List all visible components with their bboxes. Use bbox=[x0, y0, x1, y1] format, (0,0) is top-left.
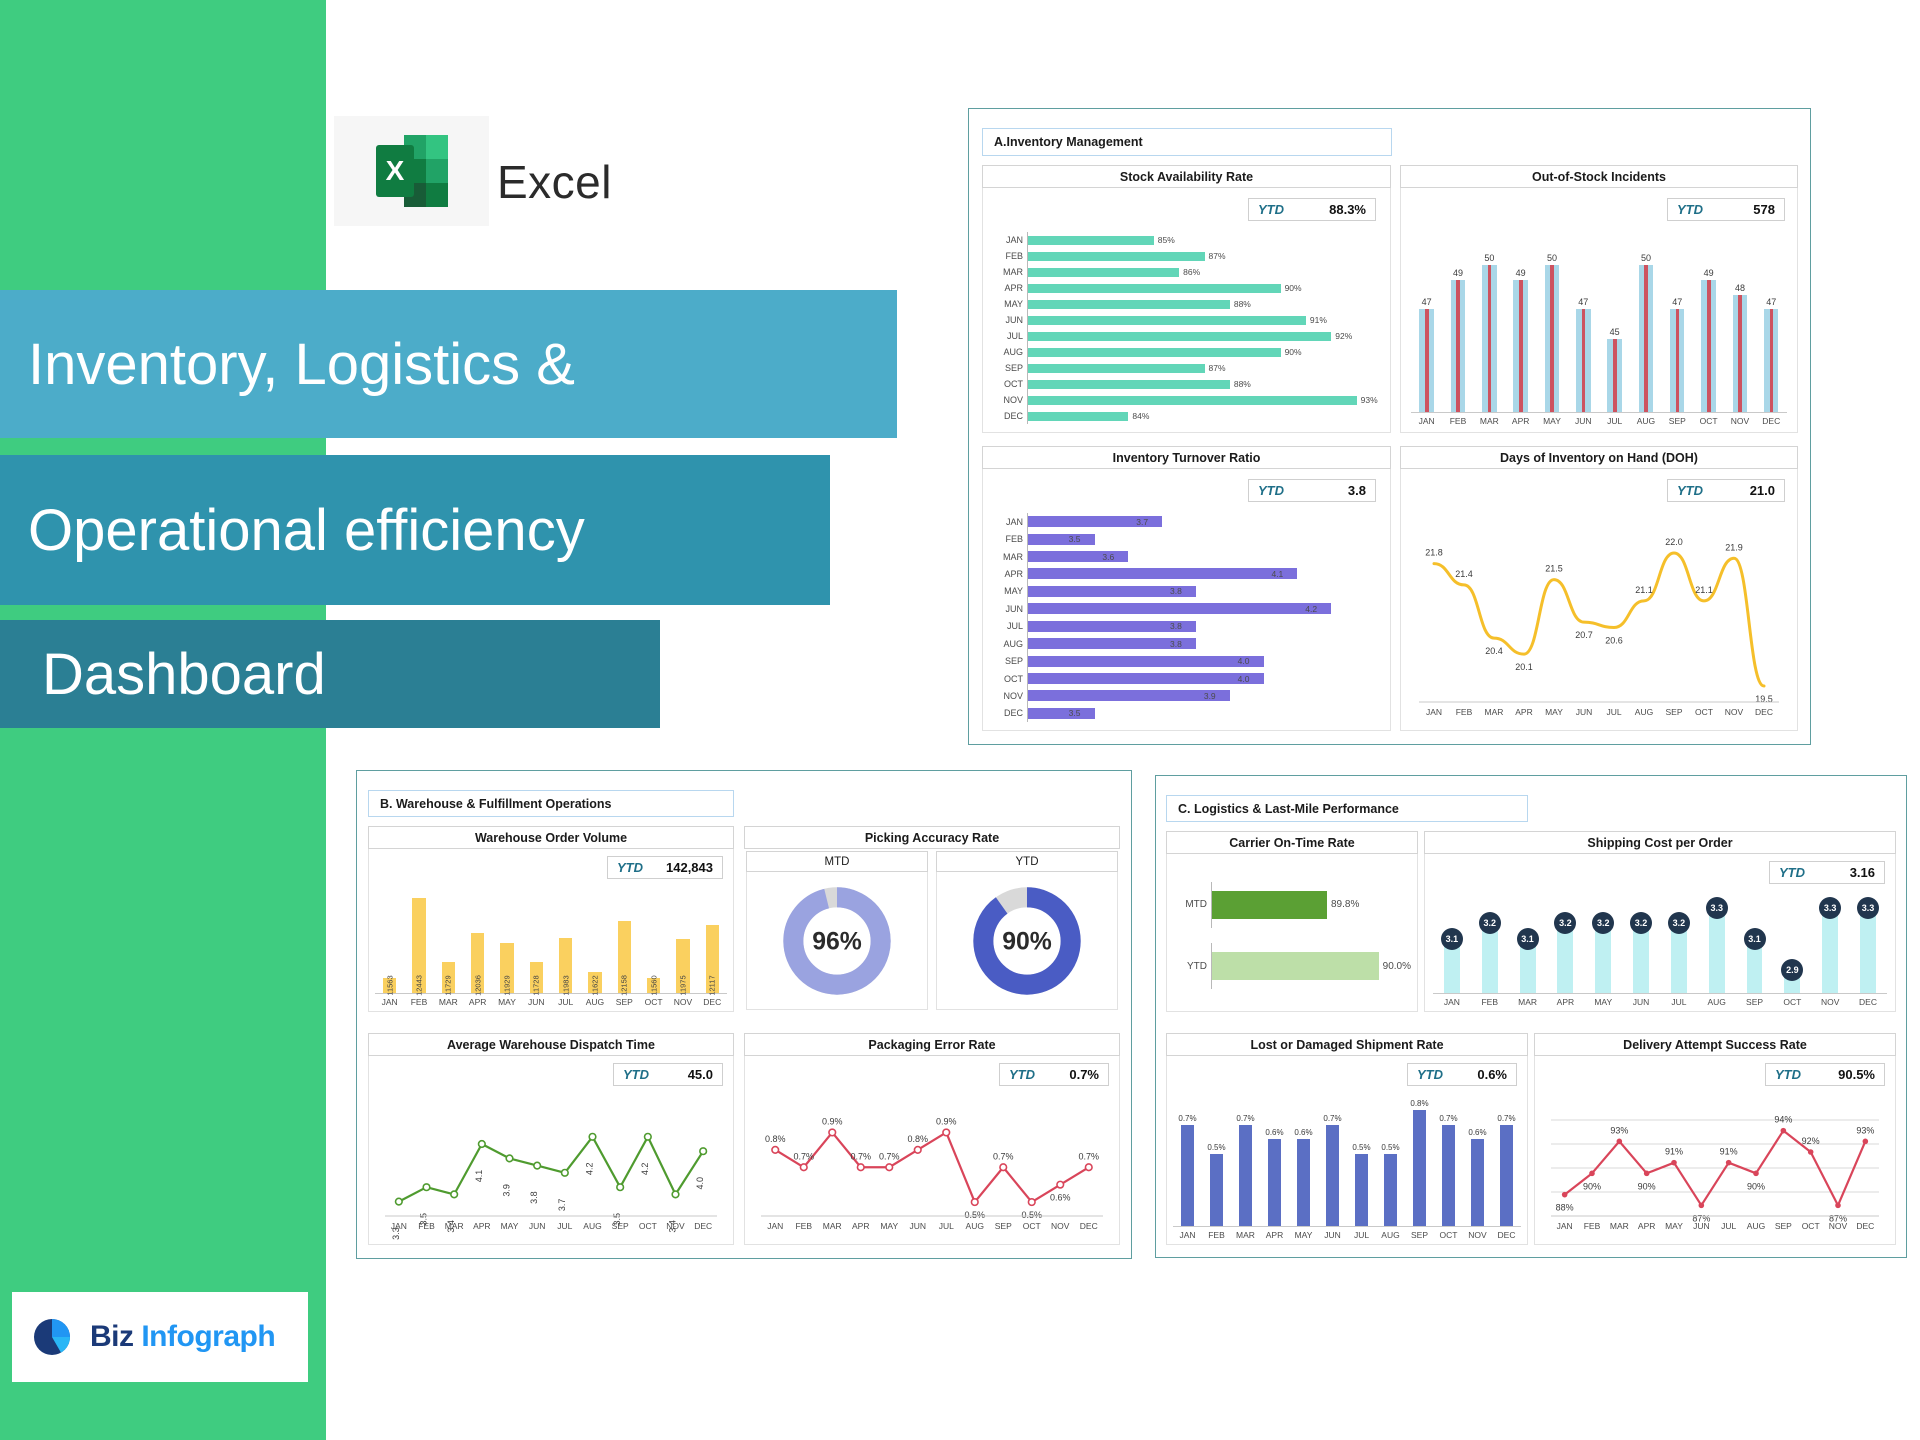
svg-text:JAN: JAN bbox=[1557, 1221, 1573, 1231]
bar-column: 3.1 bbox=[1509, 892, 1547, 993]
card-lost-or-damaged-shipment-rate: Lost or Damaged Shipment Rate YTD 0.6% 0… bbox=[1166, 1033, 1528, 1245]
line-chart-svg: 88%90%93%90%91%87%91%90%94%92%87%93%JANF… bbox=[1541, 1092, 1889, 1240]
svg-text:21.4: 21.4 bbox=[1455, 569, 1473, 579]
bar bbox=[1027, 284, 1281, 293]
bar-column: 50 bbox=[1630, 236, 1661, 412]
bar-value-bubble: 3.3 bbox=[1706, 897, 1728, 919]
bar bbox=[1027, 656, 1264, 667]
line-chart-svg: 3.33.53.44.13.93.83.74.23.54.23.44.0JANF… bbox=[375, 1092, 727, 1240]
bar: 11929 bbox=[500, 943, 513, 993]
bar bbox=[1822, 908, 1838, 993]
svg-text:90%: 90% bbox=[1583, 1181, 1601, 1191]
svg-text:92%: 92% bbox=[1802, 1136, 1820, 1146]
svg-text:0.7%: 0.7% bbox=[993, 1151, 1014, 1161]
bar-category-label: FEB bbox=[989, 534, 1027, 544]
bar bbox=[1211, 952, 1379, 980]
excel-icon: X bbox=[334, 116, 489, 226]
svg-text:0.7%: 0.7% bbox=[1078, 1151, 1099, 1161]
axis-tick-label: JUL bbox=[1347, 1227, 1376, 1240]
bar-column: 47 bbox=[1411, 236, 1442, 412]
bar-column: 1162211622 bbox=[580, 887, 609, 993]
svg-text:21.1: 21.1 bbox=[1695, 585, 1713, 595]
bar-value-label: 3.9 bbox=[1204, 691, 1216, 701]
bar-accent bbox=[1676, 309, 1680, 412]
bar-accent bbox=[1738, 295, 1742, 412]
bar-value-label: 93% bbox=[1361, 395, 1378, 405]
bar-value-label: 0.7% bbox=[1323, 1114, 1341, 1123]
card-title-packaging-error-rate: Packaging Error Rate bbox=[744, 1033, 1120, 1056]
bar-column: 1197511975 bbox=[668, 887, 697, 993]
bar-row: DEC84% bbox=[989, 408, 1382, 424]
axis-tick-label: JUN bbox=[522, 994, 551, 1007]
card-title-stock-availability-rate: Stock Availability Rate bbox=[982, 165, 1391, 188]
axis-tick-label: JAN bbox=[1411, 413, 1442, 426]
bar bbox=[1860, 908, 1876, 993]
bar bbox=[1513, 280, 1527, 412]
bar bbox=[1419, 309, 1433, 412]
bar-column: 47 bbox=[1568, 236, 1599, 412]
chart-delivery-attempt-success-rate: YTD 90.5% 88%90%93%90%91%87%91%90%94%92%… bbox=[1534, 1056, 1896, 1245]
bar-column: 49 bbox=[1693, 236, 1724, 412]
bar-row: AUG90% bbox=[989, 344, 1382, 360]
svg-text:0.6%: 0.6% bbox=[1050, 1193, 1071, 1203]
picking-accuracy-donuts: MTD 96% YTD 90% bbox=[744, 849, 1120, 1012]
bar: 12036 bbox=[471, 933, 484, 993]
bar-value-label: 0.6% bbox=[1294, 1128, 1312, 1137]
bar-row: MAY3.8 bbox=[989, 583, 1382, 600]
svg-text:AUG: AUG bbox=[583, 1221, 601, 1231]
axis-tick-label: JUN bbox=[1318, 1227, 1347, 1240]
kpi-label-packaging: YTD bbox=[1009, 1067, 1035, 1082]
bar-category-label: MAR bbox=[989, 267, 1027, 277]
svg-text:90%: 90% bbox=[1747, 1181, 1765, 1191]
bar-value-label: 50 bbox=[1484, 253, 1494, 263]
bar bbox=[1545, 265, 1559, 412]
bar-value-label: 12443 bbox=[414, 975, 423, 996]
bar-value-bubble: 3.1 bbox=[1744, 928, 1766, 950]
svg-text:20.1: 20.1 bbox=[1515, 662, 1533, 672]
bar-column: 3.2 bbox=[1471, 892, 1509, 993]
svg-text:JUN: JUN bbox=[1693, 1221, 1710, 1231]
bar-value-label: 12158 bbox=[620, 975, 629, 996]
bar-category-label: APR bbox=[989, 569, 1027, 579]
bar-value-label: 49 bbox=[1453, 268, 1463, 278]
bar bbox=[1211, 891, 1327, 919]
bar bbox=[1239, 1125, 1252, 1226]
chart-warehouse-order-volume: YTD 142,843 1156311563124431244311729117… bbox=[368, 849, 734, 1012]
bar-row: MTD89.8% bbox=[1173, 882, 1411, 928]
card-title-delivery-success: Delivery Attempt Success Rate bbox=[1534, 1033, 1896, 1056]
svg-text:21.8: 21.8 bbox=[1425, 548, 1443, 558]
bar-column: 3.3 bbox=[1698, 892, 1736, 993]
bar-row: SEP4.0 bbox=[989, 652, 1382, 669]
svg-text:19.5: 19.5 bbox=[1755, 694, 1773, 704]
logo-text-biz: Biz bbox=[90, 1320, 134, 1353]
svg-text:0.9%: 0.9% bbox=[936, 1116, 957, 1126]
kpi-value-packaging: 0.7% bbox=[1069, 1067, 1099, 1082]
bar-category-label: AUG bbox=[989, 639, 1027, 649]
bar bbox=[1670, 309, 1684, 412]
bar-value-label: 3.8 bbox=[1170, 621, 1182, 631]
donut-ytd: 90% bbox=[936, 872, 1118, 1010]
bar-accent bbox=[1488, 265, 1492, 412]
axis-tick-label: JAN bbox=[1173, 1227, 1202, 1240]
axis-tick-label: NOV bbox=[668, 994, 697, 1007]
svg-text:91%: 91% bbox=[1665, 1147, 1683, 1157]
svg-text:0.9%: 0.9% bbox=[822, 1116, 843, 1126]
bar bbox=[1027, 380, 1230, 389]
kpi-label-stock-availability: YTD bbox=[1258, 202, 1284, 217]
bar-value-bubble: 2.9 bbox=[1781, 959, 1803, 981]
axis-tick-label: AUG bbox=[1376, 1227, 1405, 1240]
bar bbox=[1027, 690, 1230, 701]
biz-infograph-logo: Biz Infograph bbox=[12, 1292, 308, 1382]
bar-column: 49 bbox=[1505, 236, 1536, 412]
svg-text:SEP: SEP bbox=[612, 1221, 629, 1231]
bar-accent bbox=[1456, 280, 1460, 412]
bar-value-label: 87% bbox=[1209, 363, 1226, 373]
axis-tick-label: FEB bbox=[1202, 1227, 1231, 1240]
kpi-value-shipping-cost: 3.16 bbox=[1850, 865, 1875, 880]
bar-value-label: 85% bbox=[1158, 235, 1175, 245]
axis-tick-label: SEP bbox=[1405, 1227, 1434, 1240]
bar: 11728 bbox=[530, 962, 543, 993]
bar-value-bubble: 3.2 bbox=[1479, 912, 1501, 934]
svg-text:FEB: FEB bbox=[418, 1221, 435, 1231]
bar-row: AUG3.8 bbox=[989, 635, 1382, 652]
bar-accent bbox=[1644, 265, 1648, 412]
bar-value-label: 91% bbox=[1310, 315, 1327, 325]
bar-column: 0.5% bbox=[1376, 1096, 1405, 1226]
bar-category-label: NOV bbox=[989, 691, 1027, 701]
bar-column: 1244312443 bbox=[404, 887, 433, 993]
svg-text:NOV: NOV bbox=[1051, 1221, 1070, 1231]
svg-text:JAN: JAN bbox=[391, 1221, 407, 1231]
card-days-of-inventory-on-hand: Days of Inventory on Hand (DOH) YTD 21.0… bbox=[1400, 446, 1798, 731]
bar-value-label: 0.8% bbox=[1410, 1099, 1428, 1108]
svg-text:21.1: 21.1 bbox=[1635, 585, 1653, 595]
axis-tick-label: JUL bbox=[1599, 413, 1630, 426]
bar-value-label: 11983 bbox=[561, 975, 570, 995]
bar-value-label: 4.1 bbox=[1271, 569, 1283, 579]
svg-text:JAN: JAN bbox=[767, 1221, 783, 1231]
card-title-doh: Days of Inventory on Hand (DOH) bbox=[1400, 446, 1798, 469]
axis-tick-label: MAR bbox=[1231, 1227, 1260, 1240]
svg-text:FEB: FEB bbox=[1584, 1221, 1601, 1231]
bar-value-label: 11728 bbox=[532, 975, 541, 995]
bar-row: APR4.1 bbox=[989, 565, 1382, 582]
bar-value-label: 48 bbox=[1735, 283, 1745, 293]
kpi-value-dispatch: 45.0 bbox=[688, 1067, 713, 1082]
bar bbox=[1027, 268, 1179, 277]
axis-tick-label: JUL bbox=[551, 994, 580, 1007]
bar bbox=[1027, 396, 1357, 405]
title-band-3: Dashboard bbox=[0, 620, 660, 728]
kpi-value-doh: 21.0 bbox=[1750, 483, 1775, 498]
kpi-value-out-of-stock: 578 bbox=[1753, 202, 1775, 217]
section-heading-a: A.Inventory Management bbox=[982, 128, 1392, 156]
chart-lost-or-damaged-shipment-rate: YTD 0.6% 0.7%0.5%0.7%0.6%0.6%0.7%0.5%0.5… bbox=[1166, 1056, 1528, 1245]
card-title-inventory-turnover-ratio: Inventory Turnover Ratio bbox=[982, 446, 1391, 469]
bar-column: 3.1 bbox=[1433, 892, 1471, 993]
bar-column: 3.3 bbox=[1811, 892, 1849, 993]
bar-category-label: MAY bbox=[989, 586, 1027, 596]
donut-label-ytd: YTD bbox=[936, 851, 1118, 872]
bar-value-bubble: 3.2 bbox=[1668, 912, 1690, 934]
card-title-dispatch-time: Average Warehouse Dispatch Time bbox=[368, 1033, 734, 1056]
donut-label-mtd: MTD bbox=[746, 851, 928, 872]
axis-tick-label: APR bbox=[1505, 413, 1536, 426]
bar-value-label: 3.6 bbox=[1102, 552, 1114, 562]
bar-value-label: 0.5% bbox=[1207, 1143, 1225, 1152]
bar-category-label: DEC bbox=[989, 708, 1027, 718]
axis-tick-label: AUG bbox=[580, 994, 609, 1007]
axis-tick-label: OCT bbox=[1434, 1227, 1463, 1240]
bar-category-label: JUN bbox=[989, 604, 1027, 614]
svg-text:OCT: OCT bbox=[1802, 1221, 1820, 1231]
axis-tick-label: AUG bbox=[1630, 413, 1661, 426]
bar-value-label: 0.7% bbox=[1497, 1114, 1515, 1123]
bar-value-bubble: 3.3 bbox=[1857, 897, 1879, 919]
svg-text:SEP: SEP bbox=[1775, 1221, 1792, 1231]
svg-text:JUL: JUL bbox=[557, 1221, 572, 1231]
title-band-1: Inventory, Logistics & bbox=[0, 290, 897, 438]
card-carrier-on-time-rate: Carrier On-Time Rate MTD89.8%YTD90.0% bbox=[1166, 831, 1418, 1012]
bar: 11622 bbox=[588, 972, 601, 993]
axis-tick-label: JUL bbox=[1660, 994, 1698, 1007]
bar-accent bbox=[1550, 265, 1554, 412]
bar-row: MAR3.6 bbox=[989, 548, 1382, 565]
kpi-label-lost-damaged: YTD bbox=[1417, 1067, 1443, 1082]
svg-text:SEP: SEP bbox=[995, 1221, 1012, 1231]
kpi-label-dispatch: YTD bbox=[623, 1067, 649, 1082]
svg-text:93%: 93% bbox=[1610, 1125, 1628, 1135]
svg-text:AUG: AUG bbox=[1747, 1221, 1765, 1231]
bar-value-label: 88% bbox=[1234, 299, 1251, 309]
bar bbox=[1576, 309, 1590, 412]
card-warehouse-order-volume: Warehouse Order Volume YTD 142,843 11563… bbox=[368, 826, 734, 1012]
svg-text:93%: 93% bbox=[1856, 1125, 1874, 1135]
axis-tick-label: SEP bbox=[610, 994, 639, 1007]
bar-value-label: 11975 bbox=[678, 975, 687, 995]
svg-text:JUN: JUN bbox=[909, 1221, 926, 1231]
svg-text:APR: APR bbox=[473, 1221, 490, 1231]
bar-row: NOV3.9 bbox=[989, 687, 1382, 704]
section-heading-b: B. Warehouse & Fulfillment Operations bbox=[368, 790, 734, 817]
bar-value-label: 3.8 bbox=[1170, 639, 1182, 649]
kpi-label-delivery-success: YTD bbox=[1775, 1067, 1801, 1082]
chart-shipping-cost-per-order: YTD 3.16 3.13.23.13.23.23.23.23.33.12.93… bbox=[1424, 854, 1896, 1012]
bar-column: 0.7% bbox=[1173, 1096, 1202, 1226]
kpi-value-lost-damaged: 0.6% bbox=[1477, 1067, 1507, 1082]
bar-column: 3.1 bbox=[1736, 892, 1774, 993]
bar-row: SEP87% bbox=[989, 360, 1382, 376]
donut-mtd: 96% bbox=[746, 872, 928, 1010]
bar-column: 0.5% bbox=[1347, 1096, 1376, 1226]
bar-value-label: 12117 bbox=[708, 975, 717, 995]
bar bbox=[1413, 1110, 1426, 1226]
bar-column: 50 bbox=[1474, 236, 1505, 412]
svg-text:X: X bbox=[385, 155, 404, 186]
bar-row: OCT4.0 bbox=[989, 670, 1382, 687]
card-title-warehouse-order-volume: Warehouse Order Volume bbox=[368, 826, 734, 849]
bar-row: OCT88% bbox=[989, 376, 1382, 392]
bar-column: 0.6% bbox=[1463, 1096, 1492, 1226]
bar-value-label: 90% bbox=[1285, 283, 1302, 293]
bar-column: 3.2 bbox=[1584, 892, 1622, 993]
bar-category-label: MAR bbox=[989, 552, 1027, 562]
axis-tick-label: FEB bbox=[1442, 413, 1473, 426]
svg-text:3.9: 3.9 bbox=[502, 1184, 512, 1197]
bar bbox=[1701, 280, 1715, 412]
axis-tick-label: NOV bbox=[1463, 1227, 1492, 1240]
bar-accent bbox=[1519, 280, 1523, 412]
bar bbox=[1181, 1125, 1194, 1226]
bar bbox=[1384, 1154, 1397, 1226]
svg-text:MAY: MAY bbox=[1665, 1221, 1683, 1231]
bar-value-label: 0.7% bbox=[1439, 1114, 1457, 1123]
svg-text:DEC: DEC bbox=[1856, 1221, 1874, 1231]
svg-text:21.9: 21.9 bbox=[1725, 542, 1743, 552]
kpi-label-doh: YTD bbox=[1677, 483, 1703, 498]
dashboard-title-line1: Inventory, Logistics & bbox=[0, 331, 575, 398]
svg-text:MAR: MAR bbox=[445, 1221, 464, 1231]
bar-accent bbox=[1770, 309, 1774, 412]
card-title-carrier-on-time-rate: Carrier On-Time Rate bbox=[1166, 831, 1418, 854]
bar-value-label: 11729 bbox=[444, 975, 453, 995]
axis-tick-label: DEC bbox=[1756, 413, 1787, 426]
bar-row: FEB87% bbox=[989, 248, 1382, 264]
bar bbox=[1027, 568, 1297, 579]
svg-text:MAY: MAY bbox=[501, 1221, 519, 1231]
bar: 12443 bbox=[412, 898, 425, 993]
bar bbox=[1027, 534, 1095, 545]
bar-row: MAY88% bbox=[989, 296, 1382, 312]
bar-column: 1172811728 bbox=[522, 887, 551, 993]
svg-text:DEC: DEC bbox=[1755, 707, 1773, 717]
bar-column: 47 bbox=[1756, 236, 1787, 412]
bar-row: JUL92% bbox=[989, 328, 1382, 344]
bar bbox=[1027, 603, 1331, 614]
svg-text:22.0: 22.0 bbox=[1665, 537, 1683, 547]
svg-text:JUL: JUL bbox=[1606, 707, 1621, 717]
bar-value-label: 49 bbox=[1704, 268, 1714, 278]
bar-value-label: 4.2 bbox=[1305, 604, 1317, 614]
card-title-lost-damaged: Lost or Damaged Shipment Rate bbox=[1166, 1033, 1528, 1056]
card-title-out-of-stock-incidents: Out-of-Stock Incidents bbox=[1400, 165, 1798, 188]
svg-text:JUL: JUL bbox=[939, 1221, 954, 1231]
bar-value-label: 88% bbox=[1234, 379, 1251, 389]
bar-accent bbox=[1707, 280, 1711, 412]
bar-value-label: 47 bbox=[1422, 297, 1432, 307]
bar-row: YTD90.0% bbox=[1173, 943, 1411, 989]
axis-tick-label: OCT bbox=[639, 994, 668, 1007]
svg-text:MAR: MAR bbox=[1485, 707, 1504, 717]
bar-value-label: 3.5 bbox=[1069, 534, 1081, 544]
bar-row: JAN85% bbox=[989, 232, 1382, 248]
bar: 12117 bbox=[706, 925, 719, 993]
axis-tick-label: NOV bbox=[1811, 994, 1849, 1007]
bar-column: 47 bbox=[1662, 236, 1693, 412]
bar-column: 0.7% bbox=[1318, 1096, 1347, 1226]
axis-tick-label: MAR bbox=[434, 994, 463, 1007]
bar-value-label: 47 bbox=[1766, 297, 1776, 307]
bar: 11975 bbox=[676, 939, 689, 993]
bar bbox=[1027, 316, 1306, 325]
section-heading-c: C. Logistics & Last-Mile Performance bbox=[1166, 795, 1528, 822]
svg-text:4.2: 4.2 bbox=[640, 1163, 650, 1176]
svg-text:OCT: OCT bbox=[639, 1221, 657, 1231]
chart-inventory-turnover-ratio: YTD 3.8 JAN3.7FEB3.5MAR3.6APR4.1MAY3.8JU… bbox=[982, 469, 1391, 731]
bar bbox=[1027, 252, 1205, 261]
axis-tick-label: MAY bbox=[1289, 1227, 1318, 1240]
bar-value-label: 87% bbox=[1209, 251, 1226, 261]
bar-value-label: 4.0 bbox=[1238, 656, 1250, 666]
bar-column: 45 bbox=[1599, 236, 1630, 412]
bar bbox=[1027, 236, 1154, 245]
axis-tick-label: MAR bbox=[1509, 994, 1547, 1007]
svg-text:NOV: NOV bbox=[1829, 1221, 1848, 1231]
bar bbox=[1482, 265, 1496, 412]
bar-category-label: SEP bbox=[989, 363, 1027, 373]
svg-text:20.7: 20.7 bbox=[1575, 630, 1593, 640]
axis-tick-label: DEC bbox=[698, 994, 727, 1007]
svg-text:DEC: DEC bbox=[1080, 1221, 1098, 1231]
bar-row: JUN91% bbox=[989, 312, 1382, 328]
bar-category-label: OCT bbox=[989, 379, 1027, 389]
svg-text:0.8%: 0.8% bbox=[907, 1134, 928, 1144]
bar bbox=[1733, 295, 1747, 412]
bar-value-label: 0.6% bbox=[1265, 1128, 1283, 1137]
kpi-value-turnover: 3.8 bbox=[1348, 483, 1366, 498]
bar-value-label: 0.5% bbox=[1381, 1143, 1399, 1152]
bar-value-label: 0.6% bbox=[1468, 1128, 1486, 1137]
bar-row: JUL3.8 bbox=[989, 618, 1382, 635]
svg-text:90%: 90% bbox=[1638, 1181, 1656, 1191]
line-chart-svg: 21.821.420.420.121.520.720.621.122.021.1… bbox=[1409, 511, 1789, 726]
bar-column: 0.6% bbox=[1260, 1096, 1289, 1226]
bar-value-label: 3.8 bbox=[1170, 586, 1182, 596]
bar bbox=[1027, 348, 1281, 357]
bar bbox=[1027, 364, 1205, 373]
svg-text:DEC: DEC bbox=[694, 1221, 712, 1231]
bar-category-label: AUG bbox=[989, 347, 1027, 357]
svg-text:4.1: 4.1 bbox=[474, 1170, 484, 1183]
kpi-label-out-of-stock: YTD bbox=[1677, 202, 1703, 217]
bar-column: 1156311563 bbox=[375, 887, 404, 993]
donut-value: 90% bbox=[1002, 928, 1052, 955]
bar-category-label: SEP bbox=[989, 656, 1027, 666]
svg-text:FEB: FEB bbox=[1456, 707, 1473, 717]
kpi-value-delivery-success: 90.5% bbox=[1838, 1067, 1875, 1082]
donut-value: 96% bbox=[812, 928, 862, 955]
svg-text:20.6: 20.6 bbox=[1605, 635, 1623, 645]
bar-row: JUN4.2 bbox=[989, 600, 1382, 617]
chart-carrier-on-time-rate: MTD89.8%YTD90.0% bbox=[1166, 854, 1418, 1012]
svg-text:3.7: 3.7 bbox=[557, 1199, 567, 1212]
bar bbox=[1451, 280, 1465, 412]
bar-row: MAR86% bbox=[989, 264, 1382, 280]
axis-tick-label: JUN bbox=[1622, 994, 1660, 1007]
svg-text:0.5%: 0.5% bbox=[964, 1210, 985, 1220]
logo-text-infograph: Infograph bbox=[141, 1320, 275, 1353]
bar-value-label: 90% bbox=[1285, 347, 1302, 357]
bar-category-label: DEC bbox=[989, 411, 1027, 421]
pie-chart-icon bbox=[30, 1314, 76, 1360]
card-title-shipping-cost-per-order: Shipping Cost per Order bbox=[1424, 831, 1896, 854]
bar-row: NOV93% bbox=[989, 392, 1382, 408]
bar-column: 1192911929 bbox=[492, 887, 521, 993]
